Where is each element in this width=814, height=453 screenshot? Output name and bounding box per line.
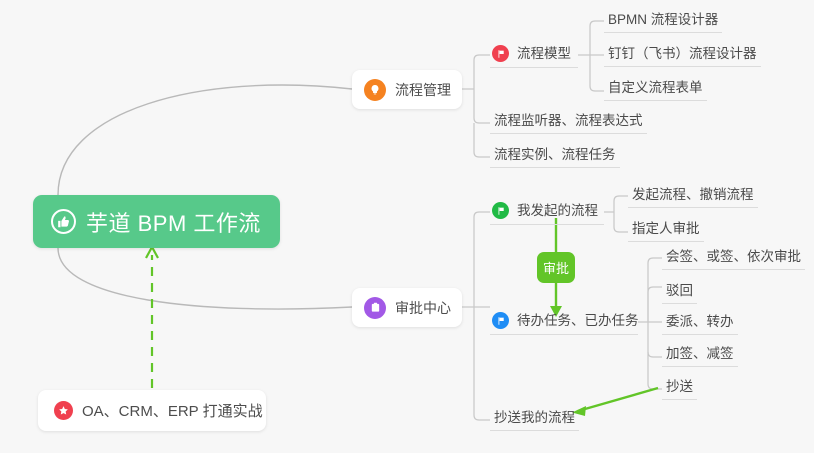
flag-icon [492,202,509,219]
leaf-process-instance[interactable]: 流程实例、流程任务 [490,147,620,168]
node-integration-label: OA、CRM、ERP 打通实战 [82,400,263,421]
flag-icon [492,312,509,329]
leaf-my-initiated-label: 我发起的流程 [517,203,598,218]
root-node[interactable]: 芋道 BPM 工作流 [33,195,280,248]
leaf-cc-to-me[interactable]: 抄送我的流程 [490,410,579,431]
leaf-todo-done-tasks[interactable]: 待办任务、已办任务 [490,312,638,335]
clipboard-icon [364,297,386,319]
leaf-assignee-approval[interactable]: 指定人审批 [628,221,704,242]
leaf-dingtalk-designer[interactable]: 钉钉（飞书）流程设计器 [604,46,761,67]
leaf-start-cancel-process[interactable]: 发起流程、撤销流程 [628,187,758,208]
branch-approval-center-label: 审批中心 [395,298,451,318]
lightbulb-icon [364,79,386,101]
leaf-delegate-transfer[interactable]: 委派、转办 [662,314,738,335]
flag-icon [492,45,509,62]
branch-process-management-label: 流程管理 [395,80,451,100]
branch-approval-center[interactable]: 审批中心 [352,288,462,327]
leaf-custom-form[interactable]: 自定义流程表单 [604,80,707,101]
star-icon [54,401,73,420]
leaf-bpmn-designer[interactable]: BPMN 流程设计器 [604,12,722,33]
leaf-todo-done-tasks-label: 待办任务、已办任务 [517,313,639,328]
root-label: 芋道 BPM 工作流 [86,206,261,238]
leaf-add-remove-sign[interactable]: 加签、减签 [662,346,738,367]
annotation-approve-chip: 审批 [537,252,575,283]
node-integration[interactable]: OA、CRM、ERP 打通实战 [38,390,266,431]
leaf-process-model[interactable]: 流程模型 [490,45,578,68]
leaf-cc[interactable]: 抄送 [662,379,697,400]
leaf-countersign[interactable]: 会签、或签、依次审批 [662,249,805,270]
leaf-my-initiated[interactable]: 我发起的流程 [490,202,604,225]
leaf-reject[interactable]: 驳回 [662,283,697,304]
leaf-process-listener[interactable]: 流程监听器、流程表达式 [490,113,647,134]
mindmap-canvas: 芋道 BPM 工作流 流程管理 流程模型 BPMN 流程设计器 钉钉（飞书）流程… [0,0,814,453]
annotation-approve-label: 审批 [543,258,569,277]
branch-process-management[interactable]: 流程管理 [352,70,462,109]
thumbs-up-icon [51,209,76,234]
leaf-process-model-label: 流程模型 [517,46,571,61]
